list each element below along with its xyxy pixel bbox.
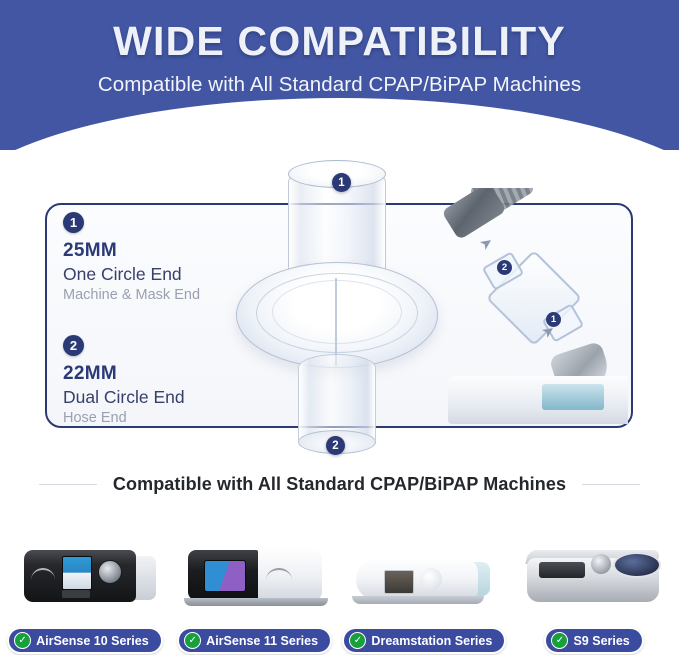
- device-image-s9: [509, 524, 679, 616]
- header-text-group: WIDE COMPATIBILITY Compatible with All S…: [0, 0, 679, 97]
- section-title: Compatible with All Standard CPAP/BiPAP …: [113, 474, 566, 495]
- page-title: WIDE COMPATIBILITY: [0, 20, 679, 63]
- product-badge-2: 2: [326, 436, 345, 455]
- badge-label-airsense-11: AirSense 11 Series: [206, 634, 318, 648]
- diagram-badge-hose-end: 2: [497, 260, 512, 275]
- badge-label-dreamstation: Dreamstation Series: [371, 634, 492, 648]
- diagram-badge-machine-end: 1: [546, 312, 561, 327]
- diagram-water-chamber: [542, 384, 604, 410]
- device-image-airsense-10: [0, 524, 170, 616]
- compatibility-infographic: WIDE COMPATIBILITY Compatible with All S…: [0, 0, 679, 655]
- header-banner: WIDE COMPATIBILITY Compatible with All S…: [0, 0, 679, 150]
- callout-item-1: 1 25MM One Circle End Machine & Mask End: [63, 212, 273, 303]
- badge-cell-4: ✓ S9 Series: [509, 627, 679, 654]
- callout-name-2: Dual Circle End: [63, 387, 273, 408]
- check-circle-icon: ✓: [349, 632, 366, 649]
- check-circle-icon: ✓: [184, 632, 201, 649]
- product-badge-1: 1: [332, 173, 351, 192]
- airsense11-screen: [204, 560, 246, 592]
- airsense10-screen: [62, 556, 92, 590]
- divider-right: [582, 484, 640, 485]
- dreamstation-knob: [420, 568, 442, 590]
- compatibility-badge-row: ✓ AirSense 10 Series ✓ AirSense 11 Serie…: [0, 626, 679, 655]
- connection-diagram: ➤ 2 1 ➤: [438, 188, 628, 428]
- callout-list: 1 25MM One Circle End Machine & Mask End…: [63, 212, 273, 426]
- callout-number-badge-2: 2: [63, 335, 84, 356]
- dreamstation-screen: [384, 570, 414, 594]
- dreamstation-base: [352, 596, 484, 604]
- filter-seam-line: [335, 278, 337, 366]
- hose-connector: [441, 188, 507, 240]
- page-subtitle: Compatible with All Standard CPAP/BiPAP …: [0, 73, 679, 97]
- device-image-airsense-11: [170, 524, 340, 616]
- callout-item-2: 2 22MM Dual Circle End Hose End: [63, 335, 273, 426]
- badge-label-airsense-10: AirSense 10 Series: [36, 634, 149, 648]
- check-circle-icon: ✓: [14, 632, 31, 649]
- dreamstation-body: [356, 558, 478, 600]
- callout-note-1: Machine & Mask End: [63, 287, 273, 303]
- badge-cell-1: ✓ AirSense 10 Series: [0, 627, 170, 654]
- badge-s9[interactable]: ✓ S9 Series: [544, 627, 643, 654]
- header-wave: [0, 98, 679, 150]
- callout-name-1: One Circle End: [63, 264, 273, 285]
- section-heading: Compatible with All Standard CPAP/BiPAP …: [0, 474, 679, 495]
- check-circle-icon: ✓: [551, 632, 568, 649]
- s9-tank-lid: [613, 552, 661, 578]
- airsense11-base: [184, 598, 328, 606]
- callout-note-2: Hose End: [63, 410, 273, 426]
- s9-display-panel: [539, 562, 585, 578]
- device-image-row: [0, 524, 679, 616]
- divider-left: [39, 484, 97, 485]
- badge-airsense-10[interactable]: ✓ AirSense 10 Series: [7, 627, 163, 654]
- badge-cell-2: ✓ AirSense 11 Series: [170, 627, 340, 654]
- badge-airsense-11[interactable]: ✓ AirSense 11 Series: [177, 627, 332, 654]
- arrow-up-icon: ➤: [476, 232, 497, 254]
- airsense10-knob: [98, 560, 122, 584]
- airsense10-button: [62, 590, 90, 598]
- callout-size-1: 25MM: [63, 240, 273, 262]
- callout-number-badge-1: 1: [63, 212, 84, 233]
- filter-disc-inner-ring-2: [272, 280, 402, 344]
- device-image-dreamstation: [340, 524, 510, 616]
- callout-size-2: 22MM: [63, 363, 273, 385]
- badge-cell-3: ✓ Dreamstation Series: [340, 627, 510, 654]
- badge-dreamstation[interactable]: ✓ Dreamstation Series: [342, 627, 506, 654]
- badge-label-s9: S9 Series: [573, 634, 629, 648]
